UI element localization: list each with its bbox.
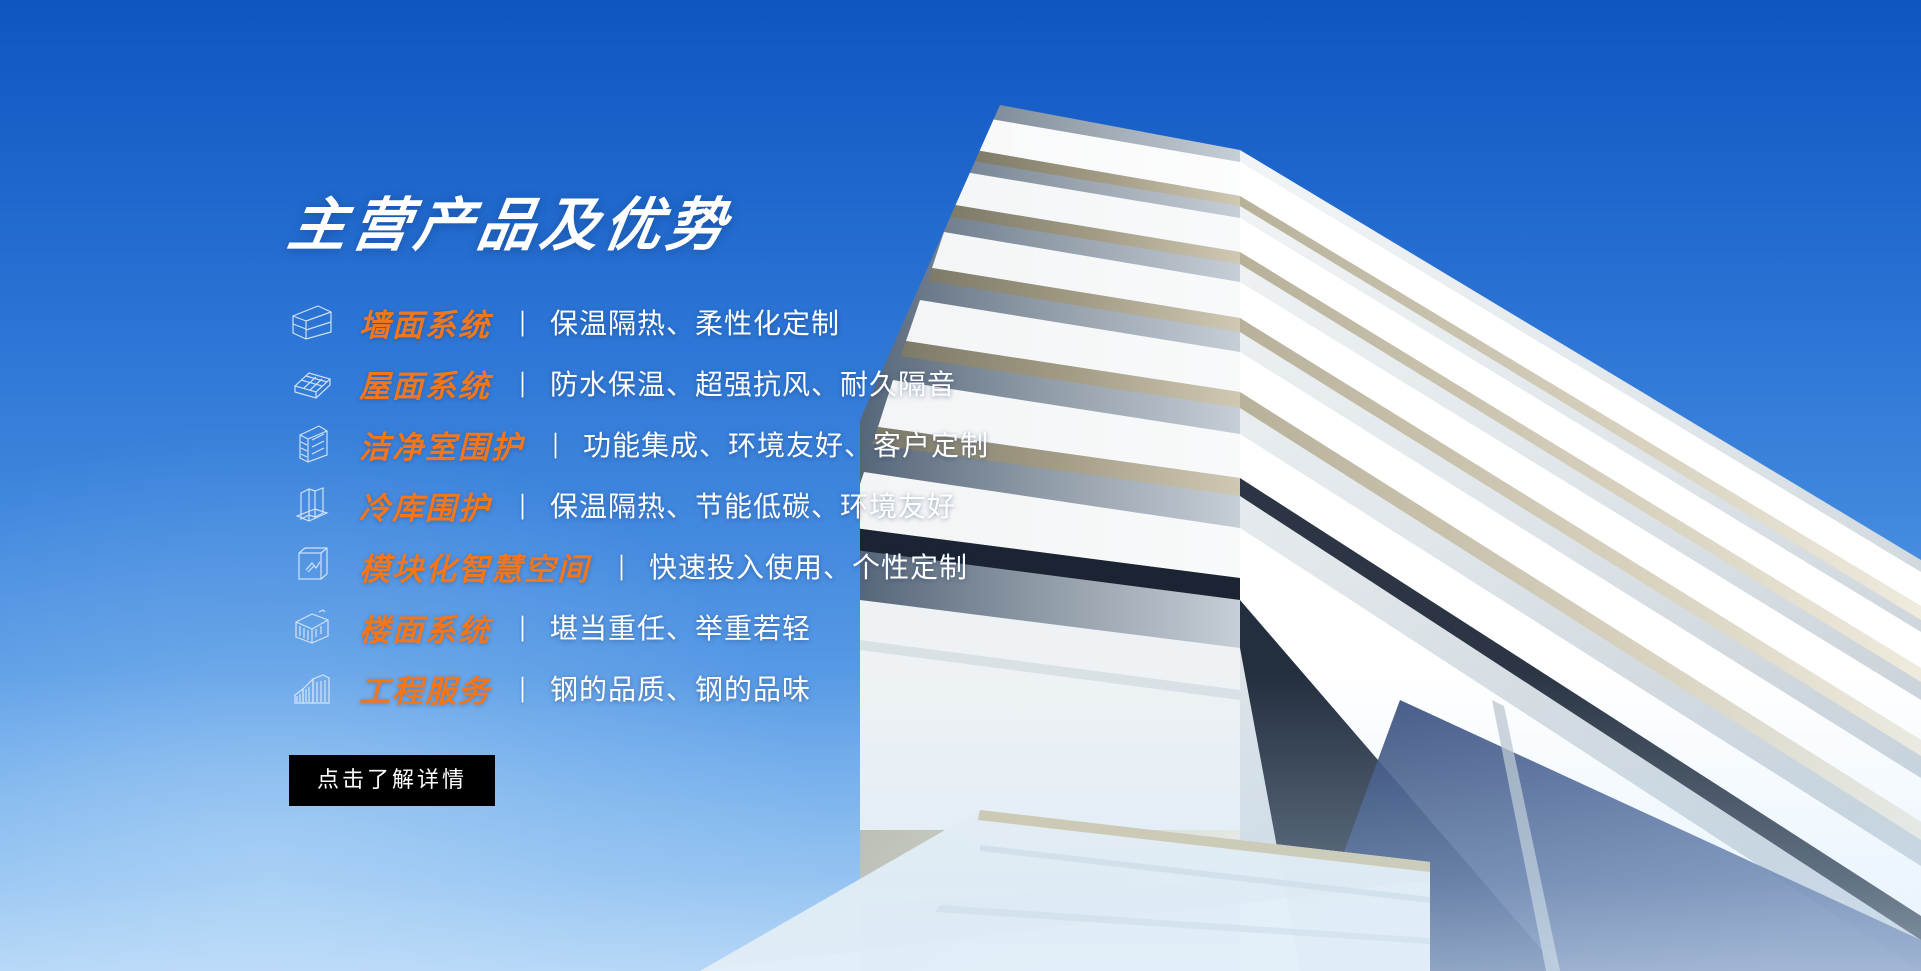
roof-slab-icon bbox=[289, 360, 335, 406]
product-name: 墙面系统 bbox=[359, 300, 491, 345]
list-item[interactable]: 冷库围护 丨 保温隔热、节能低碳、环境友好 bbox=[289, 475, 1189, 536]
product-desc: 堪当重任、举重若轻 bbox=[550, 607, 811, 647]
floor-system-icon bbox=[289, 604, 335, 650]
product-name: 冷库围护 bbox=[359, 483, 491, 528]
product-desc: 钢的品质、钢的品味 bbox=[550, 668, 811, 708]
separator-bar: 丨 bbox=[548, 425, 563, 464]
product-desc: 快速投入使用、个性定制 bbox=[649, 546, 968, 586]
modular-cube-icon bbox=[289, 543, 335, 589]
learn-more-button[interactable]: 点击了解详情 bbox=[289, 755, 495, 806]
wall-panel-icon bbox=[289, 299, 335, 345]
product-desc: 防水保温、超强抗风、耐久隔音 bbox=[550, 363, 956, 403]
product-name: 模块化智慧空间 bbox=[359, 544, 590, 589]
product-name: 工程服务 bbox=[359, 666, 491, 711]
separator-bar: 丨 bbox=[515, 303, 530, 342]
list-item[interactable]: 模块化智慧空间 丨 快速投入使用、个性定制 bbox=[289, 536, 1189, 597]
product-list: 墙面系统 丨 保温隔热、柔性化定制 屋面系统 丨 防水保温、超强抗风、耐久隔音 bbox=[289, 292, 1189, 719]
product-name: 楼面系统 bbox=[359, 605, 491, 650]
product-desc: 保温隔热、柔性化定制 bbox=[550, 302, 840, 342]
product-name: 屋面系统 bbox=[359, 361, 491, 406]
product-desc: 功能集成、环境友好、客户定制 bbox=[583, 424, 989, 464]
engineering-icon bbox=[289, 665, 335, 711]
separator-bar: 丨 bbox=[614, 547, 629, 586]
list-item[interactable]: 洁净室围护 丨 功能集成、环境友好、客户定制 bbox=[289, 414, 1189, 475]
coldstorage-icon bbox=[289, 482, 335, 528]
list-item[interactable]: 墙面系统 丨 保温隔热、柔性化定制 bbox=[289, 292, 1189, 353]
list-item[interactable]: 楼面系统 丨 堪当重任、举重若轻 bbox=[289, 597, 1189, 658]
product-name: 洁净室围护 bbox=[359, 422, 524, 467]
list-item[interactable]: 工程服务 丨 钢的品质、钢的品味 bbox=[289, 658, 1189, 719]
separator-bar: 丨 bbox=[515, 486, 530, 525]
page-title: 主营产品及优势 bbox=[284, 196, 1194, 257]
list-item[interactable]: 屋面系统 丨 防水保温、超强抗风、耐久隔音 bbox=[289, 353, 1189, 414]
hero-banner: 主营产品及优势 墙面系统 丨 保温隔热、柔性化定制 bbox=[0, 0, 1921, 971]
hero-text-panel: 主营产品及优势 墙面系统 丨 保温隔热、柔性化定制 bbox=[289, 196, 1189, 806]
separator-bar: 丨 bbox=[515, 364, 530, 403]
separator-bar: 丨 bbox=[515, 669, 530, 708]
cleanroom-icon bbox=[289, 421, 335, 467]
product-desc: 保温隔热、节能低碳、环境友好 bbox=[550, 485, 956, 525]
separator-bar: 丨 bbox=[515, 608, 530, 647]
